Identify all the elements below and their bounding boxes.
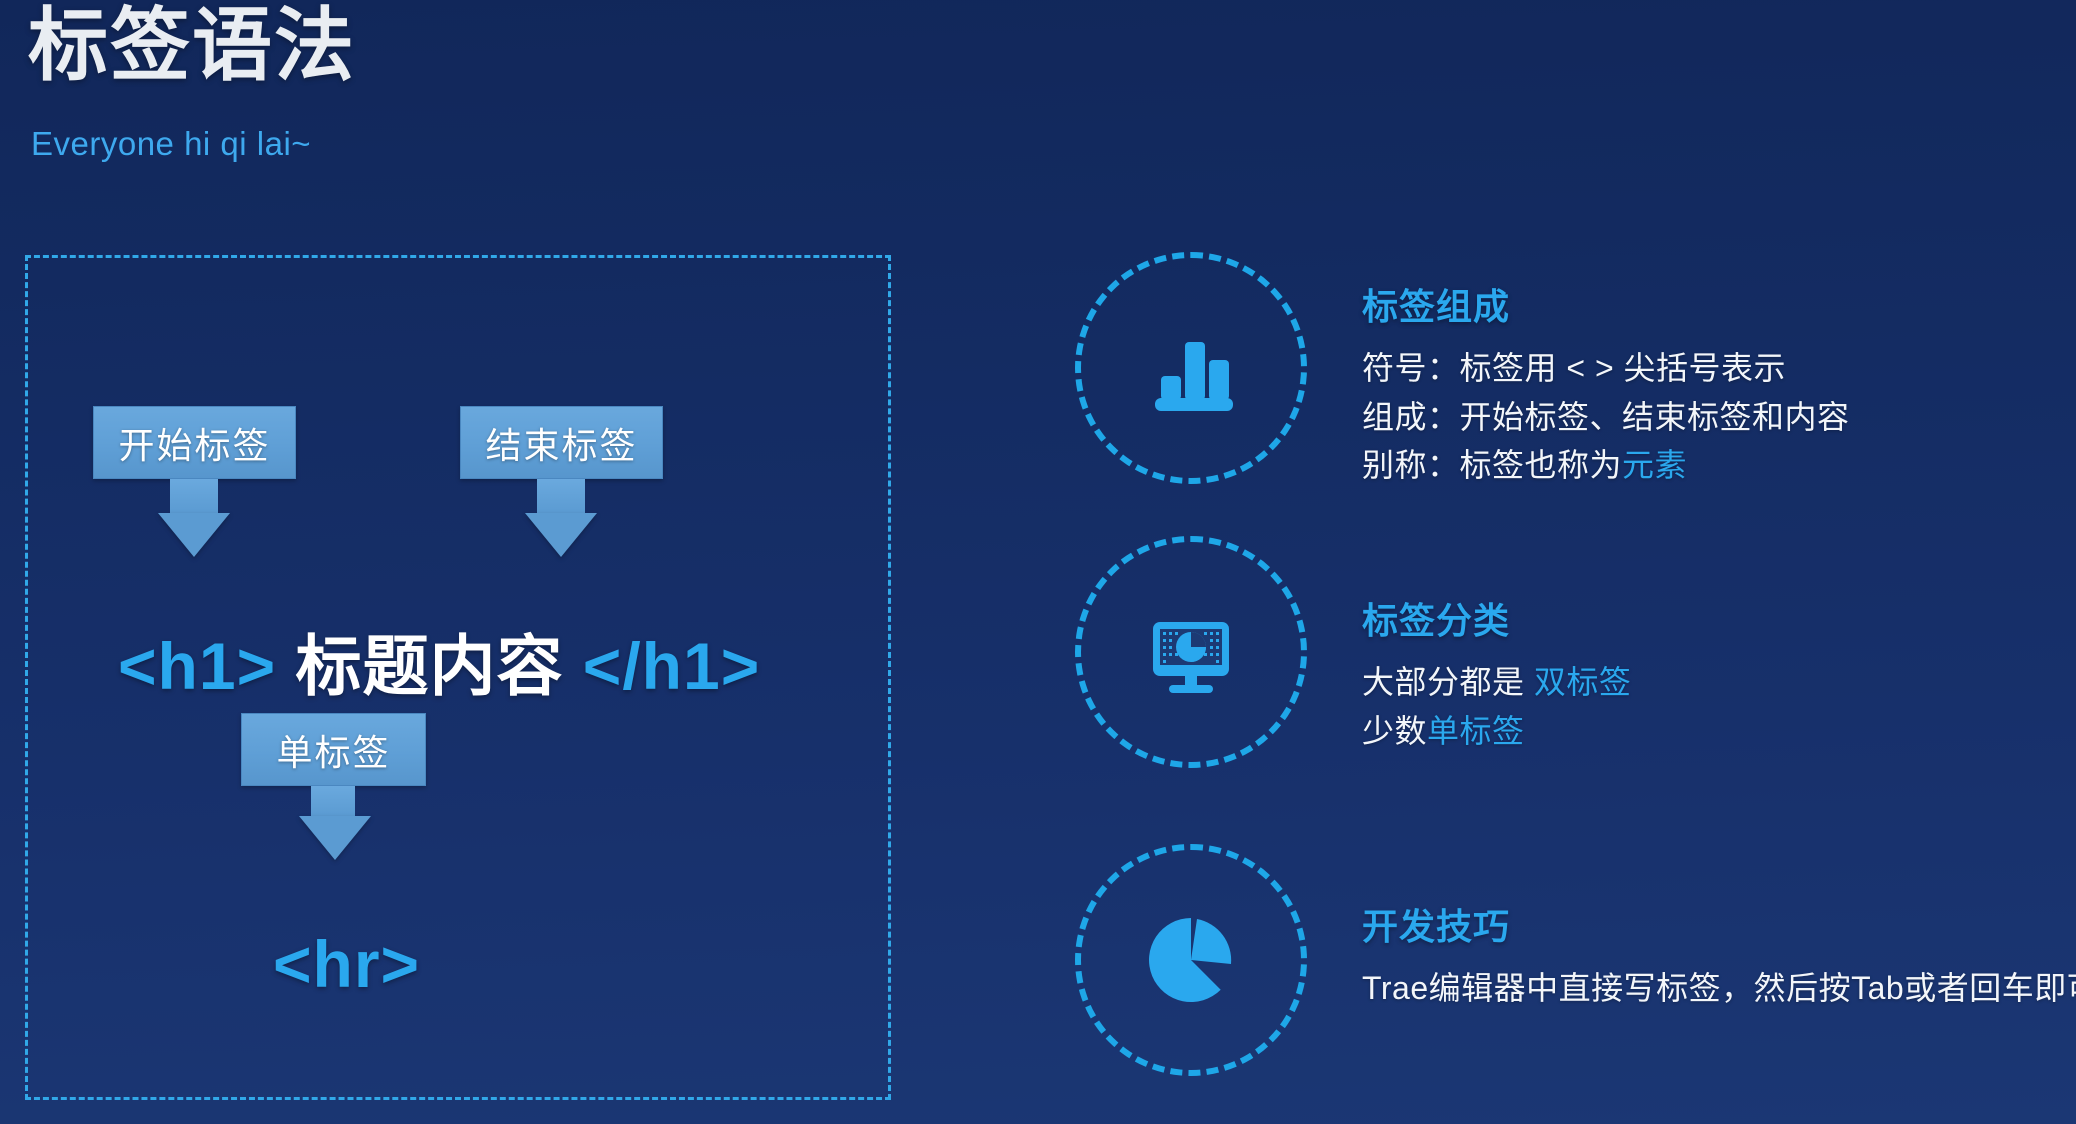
monitor-pie-icon — [1081, 542, 1301, 762]
feature-line-text: Trae编辑器中直接写标签，然后按Tab或者回车即可 — [1362, 970, 2076, 1006]
feature-line-1-2: 组成：开始标签、结束标签和内容 — [1362, 393, 1850, 442]
feature-ring-3 — [1075, 844, 1307, 1076]
code-content: 标题内容 — [295, 629, 563, 703]
feature-line-text: 符号：标签用 < > 尖括号表示 — [1362, 350, 1786, 386]
start-tag-arrow-stem — [170, 479, 218, 513]
double-tag-code: <h1> 标题内容 </h1> — [118, 613, 760, 709]
feature-line-2-1: 大部分都是 双标签 — [1362, 658, 1631, 707]
feature-title-3: 开发技巧 — [1362, 898, 2076, 950]
single-tag-code: <hr> — [273, 926, 420, 1002]
feature-line-2-2: 少数单标签 — [1362, 707, 1631, 756]
bar-chart-icon — [1081, 258, 1301, 478]
feature-line-1-3: 别称：标签也称为元素 — [1362, 441, 1850, 490]
feature-line-highlight: 元素 — [1622, 447, 1687, 483]
page-title: 标签语法 — [28, 0, 356, 96]
feature-text-1: 标签组成 符号：标签用 < > 尖括号表示 组成：开始标签、结束标签和内容 别称… — [1362, 278, 1850, 490]
pie-chart-icon — [1081, 850, 1301, 1070]
feature-line-text: 别称：标签也称为 — [1362, 447, 1622, 483]
feature-text-2: 标签分类 大部分都是 双标签 少数单标签 — [1362, 592, 1631, 755]
feature-line-text: 少数 — [1362, 713, 1427, 749]
end-tag-arrow-head — [525, 513, 597, 557]
slide-canvas: 标签语法 Everyone hi qi lai~ 开始标签 结束标签 <h1> … — [0, 0, 2076, 1124]
single-tag-arrow-head — [299, 816, 371, 860]
single-tag-arrow-stem — [311, 786, 355, 816]
feature-text-3: 开发技巧 Trae编辑器中直接写标签，然后按Tab或者回车即可 — [1362, 898, 2076, 1013]
page-subtitle: Everyone hi qi lai~ — [31, 125, 311, 163]
feature-ring-2 — [1075, 536, 1307, 768]
code-open-tag: <h1> — [118, 629, 276, 703]
start-tag-label: 开始标签 — [118, 417, 270, 469]
start-tag-arrow-head — [158, 513, 230, 557]
feature-line-highlight: 单标签 — [1427, 713, 1525, 749]
single-tag-callout: 单标签 — [241, 713, 426, 786]
feature-ring-1 — [1075, 252, 1307, 484]
tag-diagram-panel: 开始标签 结束标签 <h1> 标题内容 </h1> 单标签 <hr> — [25, 255, 891, 1100]
start-tag-callout: 开始标签 — [93, 406, 296, 479]
end-tag-arrow-stem — [537, 479, 585, 513]
feature-line-1-1: 符号：标签用 < > 尖括号表示 — [1362, 344, 1850, 393]
feature-line-text: 大部分都是 — [1362, 664, 1534, 700]
end-tag-label: 结束标签 — [485, 417, 637, 469]
end-tag-callout: 结束标签 — [460, 406, 663, 479]
feature-title-1: 标签组成 — [1362, 278, 1850, 330]
feature-line-3-1: Trae编辑器中直接写标签，然后按Tab或者回车即可 — [1362, 964, 2076, 1013]
code-close-tag: </h1> — [583, 629, 760, 703]
feature-line-text: 组成：开始标签、结束标签和内容 — [1362, 399, 1850, 435]
feature-line-highlight: 双标签 — [1534, 664, 1632, 700]
single-tag-label: 单标签 — [276, 724, 390, 776]
feature-title-2: 标签分类 — [1362, 592, 1631, 644]
